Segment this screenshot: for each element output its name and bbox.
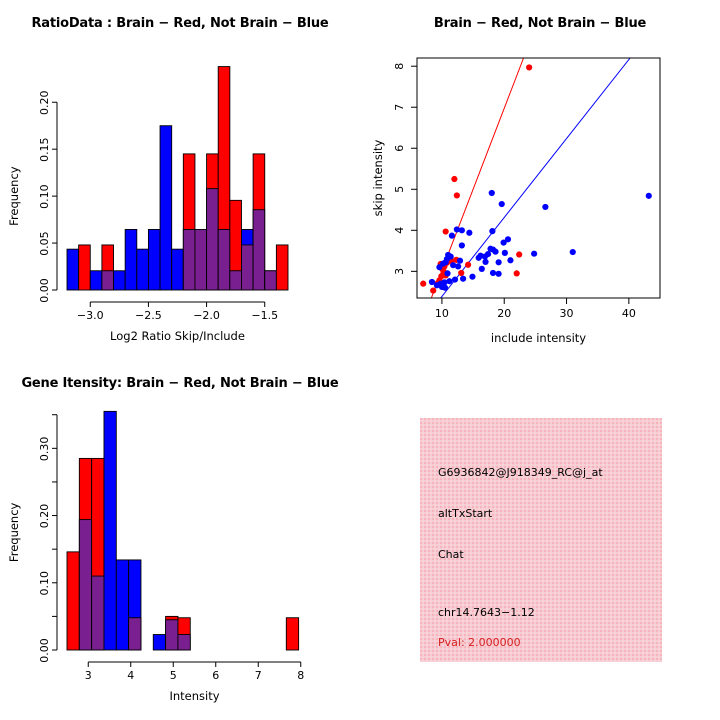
y-axis-tick-label: 3 <box>393 268 406 275</box>
y-axis-tick-label: 0.05 <box>38 231 51 256</box>
scatter-point <box>451 176 457 182</box>
scatter-point <box>516 251 522 257</box>
scatter-point <box>466 230 472 236</box>
scatter-point <box>542 204 548 210</box>
svg-ratio-content: 0.000.050.100.150.20Frequency−3.0−2.5−2.… <box>7 67 288 343</box>
scatter-point <box>496 259 502 265</box>
x-axis-tick-label: −2.5 <box>135 309 162 322</box>
y-axis-tick-label: 0.10 <box>38 184 51 209</box>
scatter-title: Brain − Red, Not Brain − Blue <box>360 16 720 31</box>
scatter-plot: 345678skip intensity10203040include inte… <box>360 0 720 360</box>
histogram-bar-overlap <box>183 229 195 290</box>
x-axis-tick-label: −1.5 <box>251 309 278 322</box>
scatter-point <box>469 274 475 280</box>
scatter-point <box>458 270 464 276</box>
x-axis-tick-label: −2.0 <box>193 309 220 322</box>
histogram-bar <box>125 229 137 290</box>
y-axis-title: Frequency <box>7 166 21 226</box>
x-axis-tick-label: 20 <box>497 307 511 320</box>
histogram-bar <box>276 245 288 290</box>
y-axis-tick-label: 6 <box>393 145 406 152</box>
y-axis-tick-label: 0.10 <box>38 571 51 596</box>
panel-intensity-scatter: Brain − Red, Not Brain − Blue 345678skip… <box>360 0 720 360</box>
scatter-point <box>460 276 466 282</box>
histogram-bar <box>286 618 298 650</box>
event-type-text: altTxStart <box>438 507 492 520</box>
y-axis-tick-label: 4 <box>393 227 406 234</box>
histogram-bar-overlap <box>265 271 277 290</box>
scatter-point <box>454 192 460 198</box>
x-axis-tick-label: 10 <box>435 307 449 320</box>
scatter-point <box>499 201 505 207</box>
histogram-bar <box>160 126 172 290</box>
y-axis-title: skip intensity <box>371 139 385 216</box>
scatter-point <box>489 228 495 234</box>
x-axis-title: include intensity <box>491 331 586 345</box>
panel-annotation-info: G6936842@J918349_RC@j_at altTxStart Chat… <box>360 360 720 720</box>
pvalue-text: Pval: 2.000000 <box>438 636 521 649</box>
panel-gene-intensity-histogram: Gene Itensity: Brain − Red, Not Brain − … <box>0 360 360 720</box>
scatter-point <box>430 288 436 294</box>
scatter-point <box>465 262 471 268</box>
histogram-bar-overlap <box>253 210 265 290</box>
histogram-bar <box>172 249 184 290</box>
histogram-bar-overlap <box>129 618 141 650</box>
scatter-point <box>449 233 455 239</box>
y-axis-tick-label: 0.15 <box>38 137 51 162</box>
histogram-bar <box>116 560 128 650</box>
histogram-bar-overlap <box>230 271 242 290</box>
x-axis-tick-label: 6 <box>212 669 219 682</box>
scatter-point <box>507 257 513 263</box>
scatter-data-area <box>420 58 652 298</box>
svg-scatter-content: 345678skip intensity10203040include inte… <box>371 58 660 345</box>
scatter-point <box>476 255 482 261</box>
scatter-point <box>531 251 537 257</box>
x-axis-tick-label: 7 <box>255 669 262 682</box>
ratio-histogram-title: RatioData : Brain − Red, Not Brain − Blu… <box>0 16 360 31</box>
scatter-point <box>420 281 426 287</box>
x-axis-tick-label: −3.0 <box>77 309 104 322</box>
histogram-bar <box>67 249 79 290</box>
scatter-point <box>485 251 491 257</box>
x-axis-title: Intensity <box>169 689 219 703</box>
scatter-point <box>479 266 485 272</box>
svg-gene-content: 0.000.100.200.30Frequency345678Intensity <box>7 411 304 703</box>
scatter-point <box>570 249 576 255</box>
x-axis-tick-label: 30 <box>560 307 574 320</box>
x-axis-tick-label: 4 <box>127 669 134 682</box>
y-axis-tick-label: 7 <box>393 104 406 111</box>
histogram-bar-overlap <box>195 229 207 290</box>
scatter-point <box>482 259 488 265</box>
scatter-point <box>455 263 461 269</box>
x-axis-tick-label: 5 <box>170 669 177 682</box>
y-axis-title: Frequency <box>7 502 21 562</box>
x-axis-tick-label: 3 <box>85 669 92 682</box>
scatter-point <box>526 64 532 70</box>
scatter-point <box>443 228 449 234</box>
histogram-bar <box>79 245 91 290</box>
scatter-point <box>457 258 463 264</box>
scatter-point <box>502 250 508 256</box>
scatter-point <box>496 271 502 277</box>
probe-id-text: G6936842@J918349_RC@j_at <box>438 466 603 479</box>
scatter-point <box>490 270 496 276</box>
x-axis-tick-label: 40 <box>622 307 636 320</box>
scatter-point <box>459 227 465 233</box>
scatter-point <box>429 279 435 285</box>
histogram-bar <box>104 411 116 650</box>
gene-histogram-plot: 0.000.100.200.30Frequency345678Intensity <box>0 360 360 720</box>
histogram-bar-overlap <box>178 635 190 650</box>
histogram-bar-overlap <box>79 520 91 650</box>
histogram-bar-overlap <box>207 189 219 290</box>
scatter-point <box>514 270 520 276</box>
y-axis-tick-label: 0.00 <box>38 278 51 303</box>
scatter-point <box>489 190 495 196</box>
scatter-point <box>501 240 507 246</box>
scatter-point <box>459 242 465 248</box>
scatter-point <box>442 285 448 291</box>
scatter-point <box>492 249 498 255</box>
annotation-box: G6936842@J918349_RC@j_at altTxStart Chat… <box>420 418 662 662</box>
y-axis-tick-label: 5 <box>393 186 406 193</box>
scatter-point <box>444 270 450 276</box>
x-axis-tick-label: 8 <box>297 669 304 682</box>
y-axis-tick-label: 8 <box>393 63 406 70</box>
x-axis-title: Log2 Ratio Skip/Include <box>110 329 245 343</box>
panel-ratio-histogram: RatioData : Brain − Red, Not Brain − Blu… <box>0 0 360 360</box>
locus-text: chr14.7643−1.12 <box>438 606 535 619</box>
histogram-bar-overlap <box>218 229 230 290</box>
y-axis-tick-label: 0.20 <box>38 90 51 115</box>
histogram-bar <box>148 229 160 290</box>
histogram-bar <box>90 271 102 290</box>
scatter-point <box>452 276 458 282</box>
histogram-bar <box>153 635 165 650</box>
histogram-bar-overlap <box>92 576 104 650</box>
histogram-bar-overlap <box>102 271 114 290</box>
gene-symbol-text: Chat <box>438 548 464 561</box>
histogram-bar <box>114 271 126 290</box>
histogram-bar <box>67 552 79 650</box>
y-axis-tick-label: 0.00 <box>38 638 51 663</box>
histogram-bar <box>137 249 149 290</box>
histogram-bar-overlap <box>166 620 178 650</box>
scatter-point <box>436 264 442 270</box>
gene-histogram-title: Gene Itensity: Brain − Red, Not Brain − … <box>0 376 360 391</box>
y-axis-tick-label: 0.30 <box>38 437 51 462</box>
scatter-point <box>646 193 652 199</box>
histogram-bar-overlap <box>241 245 253 290</box>
y-axis-tick-label: 0.20 <box>38 504 51 529</box>
ratio-histogram-plot: 0.000.050.100.150.20Frequency−3.0−2.5−2.… <box>0 0 360 360</box>
